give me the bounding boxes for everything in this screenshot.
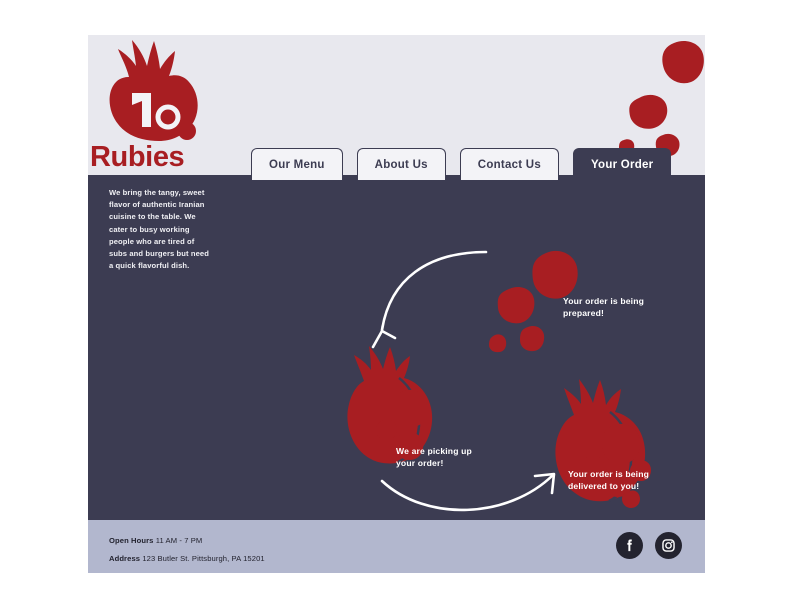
- arrow-to-picking-icon: [373, 252, 486, 347]
- website-canvas: Rubies Our Menu About Us Contact Us Your…: [88, 35, 705, 573]
- facebook-glyph: [621, 537, 638, 554]
- tab-our-menu[interactable]: Our Menu: [251, 148, 343, 180]
- footer-address: Address 123 Butler St. Pittsburgh, PA 15…: [109, 554, 265, 563]
- tab-contact-us[interactable]: Contact Us: [460, 148, 559, 180]
- tab-your-order[interactable]: Your Order: [573, 148, 671, 180]
- status-label-picking-up: We are picking up your order!: [396, 446, 486, 469]
- arrow-to-delivered-icon: [382, 474, 554, 510]
- address-value: 123 Butler St. Pittsburgh, PA 15201: [142, 554, 264, 563]
- site-footer: Open Hours 11 AM - 7 PM Address 123 Butl…: [88, 520, 705, 573]
- footer-open-hours: Open Hours 11 AM - 7 PM: [109, 536, 202, 545]
- address-label: Address: [109, 554, 140, 563]
- open-hours-label: Open Hours: [109, 536, 153, 545]
- site-header: Rubies Our Menu About Us Contact Us Your…: [88, 35, 705, 175]
- instagram-icon[interactable]: [655, 532, 682, 559]
- facebook-icon[interactable]: [616, 532, 643, 559]
- instagram-glyph: [660, 537, 677, 554]
- open-hours-value: 11 AM - 7 PM: [156, 536, 203, 545]
- brand-wordmark: Rubies: [90, 141, 184, 174]
- status-label-prepared: Your order is being prepared!: [563, 296, 653, 319]
- main-navigation: Our Menu About Us Contact Us Your Order: [251, 148, 671, 180]
- pomegranate-splat-logo-icon: [88, 35, 218, 150]
- status-label-delivered: Your order is being delivered to you!: [568, 469, 668, 492]
- tab-label: Our Menu: [269, 159, 325, 171]
- order-status-panel: We bring the tangy, sweet flavor of auth…: [88, 175, 705, 520]
- order-flow-graphic: Your order is being prepared! We are pic…: [218, 175, 705, 520]
- social-links: [616, 532, 682, 559]
- tab-about-us[interactable]: About Us: [357, 148, 446, 180]
- brand-logo[interactable]: Rubies: [88, 35, 218, 180]
- tab-label: Contact Us: [478, 159, 541, 171]
- tab-label: About Us: [375, 159, 428, 171]
- about-blurb: We bring the tangy, sweet flavor of auth…: [109, 187, 213, 272]
- tab-label: Your Order: [591, 159, 653, 171]
